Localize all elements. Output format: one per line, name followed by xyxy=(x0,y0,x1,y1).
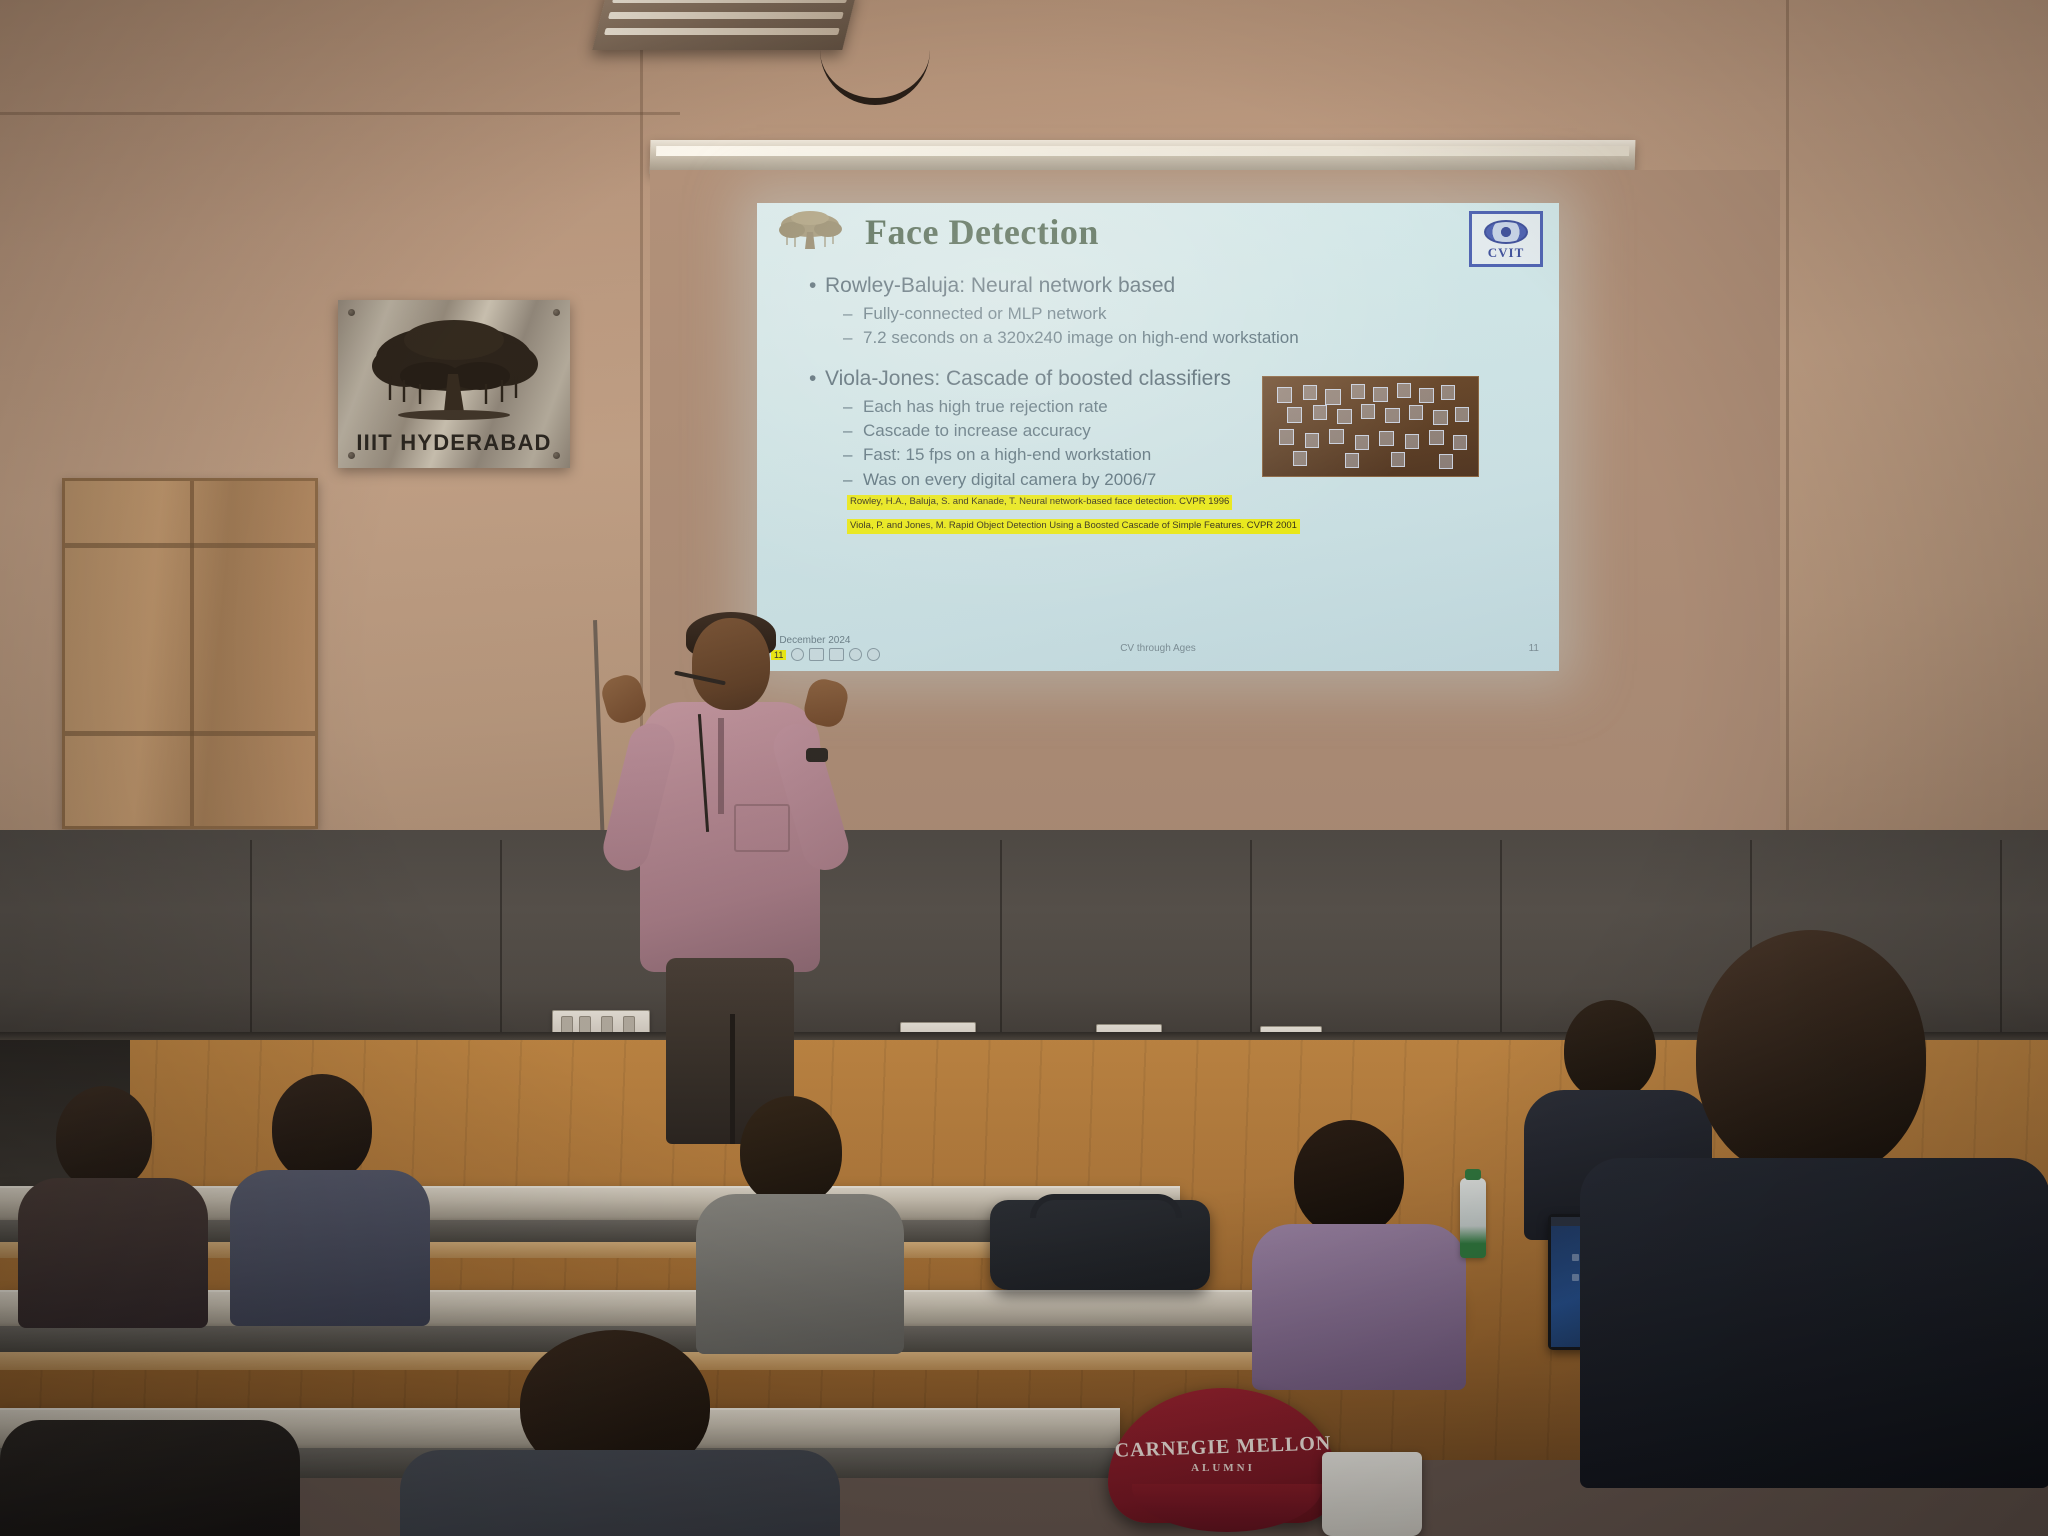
speaker-head xyxy=(692,618,770,710)
citation: Viola, P. and Jones, M. Rapid Object Det… xyxy=(847,519,1300,534)
lecture-hall-photo: IIIT HYDERABAD Face Detection CVIT xyxy=(0,0,2048,1536)
slide-title: Face Detection xyxy=(865,211,1099,253)
eye-icon xyxy=(1484,220,1528,244)
bullet-group: •Rowley-Baluja: Neural network based –Fu… xyxy=(809,273,1539,349)
cap-text-line2: ALUMNI xyxy=(1108,1462,1338,1474)
backpack[interactable] xyxy=(990,1200,1210,1290)
iiit-hyderabad-plaque: IIIT HYDERABAD xyxy=(338,300,570,468)
person-body xyxy=(230,1170,430,1326)
citation: Rowley, H.A., Baluja, S. and Kanade, T. … xyxy=(847,495,1232,510)
face-detection-example-photo xyxy=(1262,376,1479,477)
cvit-logo-text: CVIT xyxy=(1488,246,1525,259)
person-body xyxy=(18,1178,208,1328)
citations: Rowley, H.A., Baluja, S. and Kanade, T. … xyxy=(847,491,1300,539)
bullet-sub: –Fully-connected or MLP network xyxy=(843,303,1539,324)
wall-seam xyxy=(0,112,680,115)
person-head xyxy=(1294,1120,1404,1236)
person-head xyxy=(56,1086,152,1190)
wall-seam xyxy=(1786,0,1789,840)
projected-slide: Face Detection CVIT •Rowley-Baluja: Neur… xyxy=(757,203,1559,671)
coffee-mug[interactable] xyxy=(1322,1452,1422,1536)
person-head xyxy=(1564,1000,1656,1100)
slide-deck-title: CV through Ages xyxy=(771,643,1545,654)
cvit-logo: CVIT xyxy=(1469,211,1543,267)
bench-desktop xyxy=(0,1352,1460,1370)
person-body xyxy=(1580,1158,2048,1488)
slide-banyan-tree-icon xyxy=(775,209,845,253)
plaque-institution-label: IIIT HYDERABAD xyxy=(338,430,570,456)
bullet-sub: –7.2 seconds on a 320x240 image on high-… xyxy=(843,327,1539,348)
water-bottle[interactable] xyxy=(1460,1178,1486,1258)
ceiling-light-bar xyxy=(650,140,1636,174)
side-door[interactable] xyxy=(62,478,318,829)
person-body xyxy=(696,1194,904,1354)
cap-text-line1: CARNEGIE MELLON xyxy=(1108,1432,1339,1463)
speaker xyxy=(610,618,850,1098)
person-body xyxy=(0,1420,300,1536)
banyan-tree-icon xyxy=(360,314,548,428)
person-head xyxy=(272,1074,372,1182)
ceiling-projector xyxy=(592,0,857,50)
person-head xyxy=(1696,930,1926,1180)
person-head xyxy=(740,1096,842,1206)
cap-brim xyxy=(1132,1484,1322,1532)
person-body xyxy=(400,1450,840,1536)
slide-footer: 3 December 2024 11 CV through Ages 11 xyxy=(771,635,1545,665)
slide-number: 11 xyxy=(1529,643,1539,654)
person-body xyxy=(1252,1224,1466,1390)
bullet-primary: •Rowley-Baluja: Neural network based xyxy=(809,273,1539,298)
